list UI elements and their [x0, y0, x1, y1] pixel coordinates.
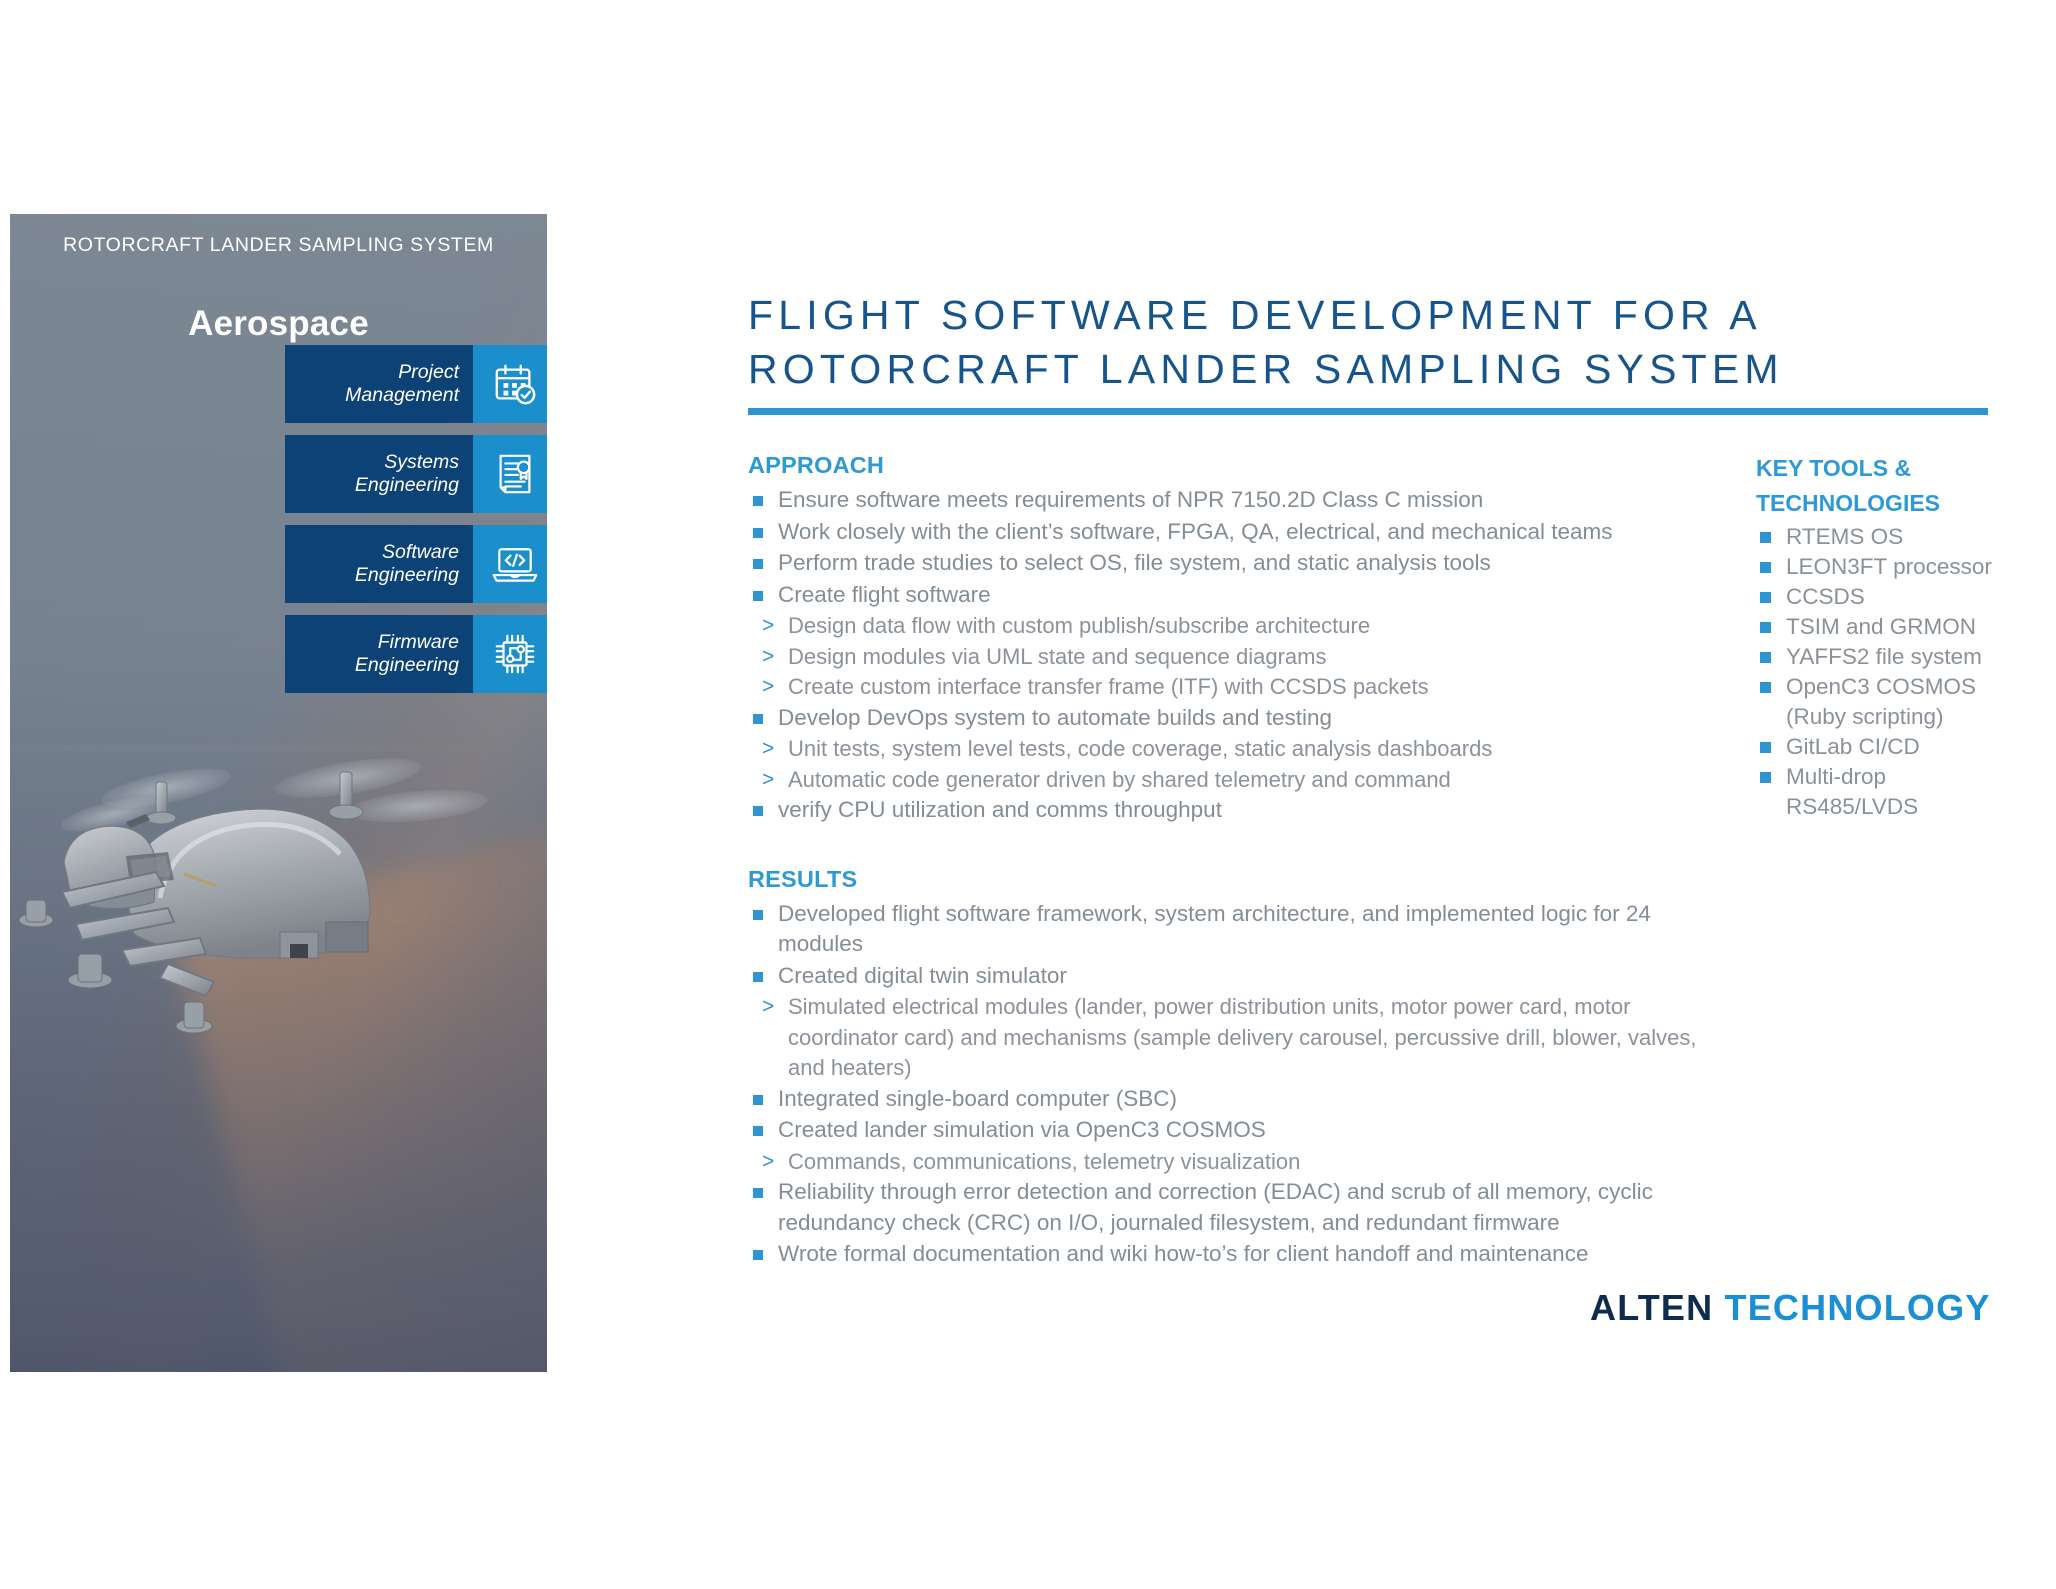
sub-bullet-list: Simulated electrical modules (lander, po…	[748, 992, 1698, 1084]
capability-tile-systems-engineering[interactable]: Systems Engineering	[285, 435, 547, 513]
approach-heading: APPROACH	[748, 452, 1698, 479]
bullet-item: Ensure software meets requirements of NP…	[748, 485, 1698, 516]
logo-secondary: TECHNOLOGY	[1725, 1287, 1991, 1328]
key-tool-item: OpenC3 COSMOS (Ruby scripting)	[1756, 672, 1996, 732]
alten-technology-logo: ALTEN TECHNOLOGY	[1590, 1287, 1991, 1329]
case-study-hero-panel: ROTORCRAFT LANDER SAMPLING SYSTEM Aerosp…	[10, 214, 547, 1372]
key-tools-heading-line2: TECHNOLOGIES	[1756, 487, 1996, 520]
results-heading: RESULTS	[748, 866, 1698, 893]
bullet-item: Wrote formal documentation and wiki how-…	[748, 1239, 1698, 1270]
main-content-column: APPROACH Ensure software meets requireme…	[748, 452, 1698, 1271]
sub-bullet-list: Design data flow with custom publish/sub…	[748, 611, 1698, 703]
sub-bullet-item: Commands, communications, telemetry visu…	[748, 1147, 1698, 1178]
panel-kicker: ROTORCRAFT LANDER SAMPLING SYSTEM	[10, 234, 547, 257]
logo-primary: ALTEN	[1590, 1287, 1713, 1328]
rotorcraft-lander-illustration	[18, 744, 488, 1074]
approach-list: Ensure software meets requirements of NP…	[748, 485, 1698, 826]
sub-bullet-item: Design data flow with custom publish/sub…	[748, 611, 1698, 642]
key-tools-heading-line1: KEY TOOLS &	[1756, 452, 1996, 485]
title-divider	[748, 408, 1988, 415]
bullet-item: Perform trade studies to select OS, file…	[748, 548, 1698, 579]
sub-bullet-item: Create custom interface transfer frame (…	[748, 672, 1698, 703]
key-tools-column: KEY TOOLS & TECHNOLOGIES RTEMS OSLEON3FT…	[1756, 452, 1996, 822]
bullet-item: Created digital twin simulator	[748, 961, 1698, 992]
sub-bullet-item: Design modules via UML state and sequenc…	[748, 642, 1698, 673]
key-tool-item: TSIM and GRMON	[1756, 612, 1996, 642]
capability-tile-software-engineering[interactable]: Software Engineering	[285, 525, 547, 603]
bullet-item: Integrated single-board computer (SBC)	[748, 1084, 1698, 1115]
key-tools-list: RTEMS OSLEON3FT processorCCSDSTSIM and G…	[1756, 522, 1996, 822]
bullet-item: Work closely with the client’s software,…	[748, 517, 1698, 548]
sub-bullet-item: Automatic code generator driven by share…	[748, 765, 1698, 796]
bullet-item: Developed flight software framework, sys…	[748, 899, 1698, 960]
certificate-document-icon	[473, 435, 547, 513]
bullet-item: Reliability through error detection and …	[748, 1177, 1698, 1238]
panel-industry-title: Aerospace	[10, 304, 547, 344]
key-tool-item: GitLab CI/CD	[1756, 732, 1996, 762]
sub-bullet-list: Unit tests, system level tests, code cov…	[748, 734, 1698, 795]
sub-bullet-list: Commands, communications, telemetry visu…	[748, 1147, 1698, 1178]
sub-bullet-item: Unit tests, system level tests, code cov…	[748, 734, 1698, 765]
bullet-item: Create flight software	[748, 580, 1698, 611]
calendar-check-icon	[473, 345, 547, 423]
microchip-icon	[473, 615, 547, 693]
bullet-item: verify CPU utilization and comms through…	[748, 795, 1698, 826]
key-tool-item: YAFFS2 file system	[1756, 642, 1996, 672]
results-list: Developed flight software framework, sys…	[748, 899, 1698, 1270]
capability-tiles: Project Management Systems Eng	[285, 345, 547, 705]
laptop-code-icon	[473, 525, 547, 603]
key-tool-item: RTEMS OS	[1756, 522, 1996, 552]
bullet-item: Created lander simulation via OpenC3 COS…	[748, 1115, 1698, 1146]
tile-label: Software Engineering	[285, 525, 473, 603]
page-title: FLIGHT SOFTWARE DEVELOPMENT FOR A ROTORC…	[748, 288, 1988, 396]
tile-label: Project Management	[285, 345, 473, 423]
tile-label: Systems Engineering	[285, 435, 473, 513]
key-tool-item: Multi-drop RS485/LVDS	[1756, 762, 1996, 822]
key-tool-item: LEON3FT processor	[1756, 552, 1996, 582]
bullet-item: Develop DevOps system to automate builds…	[748, 703, 1698, 734]
capability-tile-firmware-engineering[interactable]: Firmware Engineering	[285, 615, 547, 693]
key-tool-item: CCSDS	[1756, 582, 1996, 612]
capability-tile-project-management[interactable]: Project Management	[285, 345, 547, 423]
tile-label: Firmware Engineering	[285, 615, 473, 693]
sub-bullet-item: Simulated electrical modules (lander, po…	[748, 992, 1698, 1084]
